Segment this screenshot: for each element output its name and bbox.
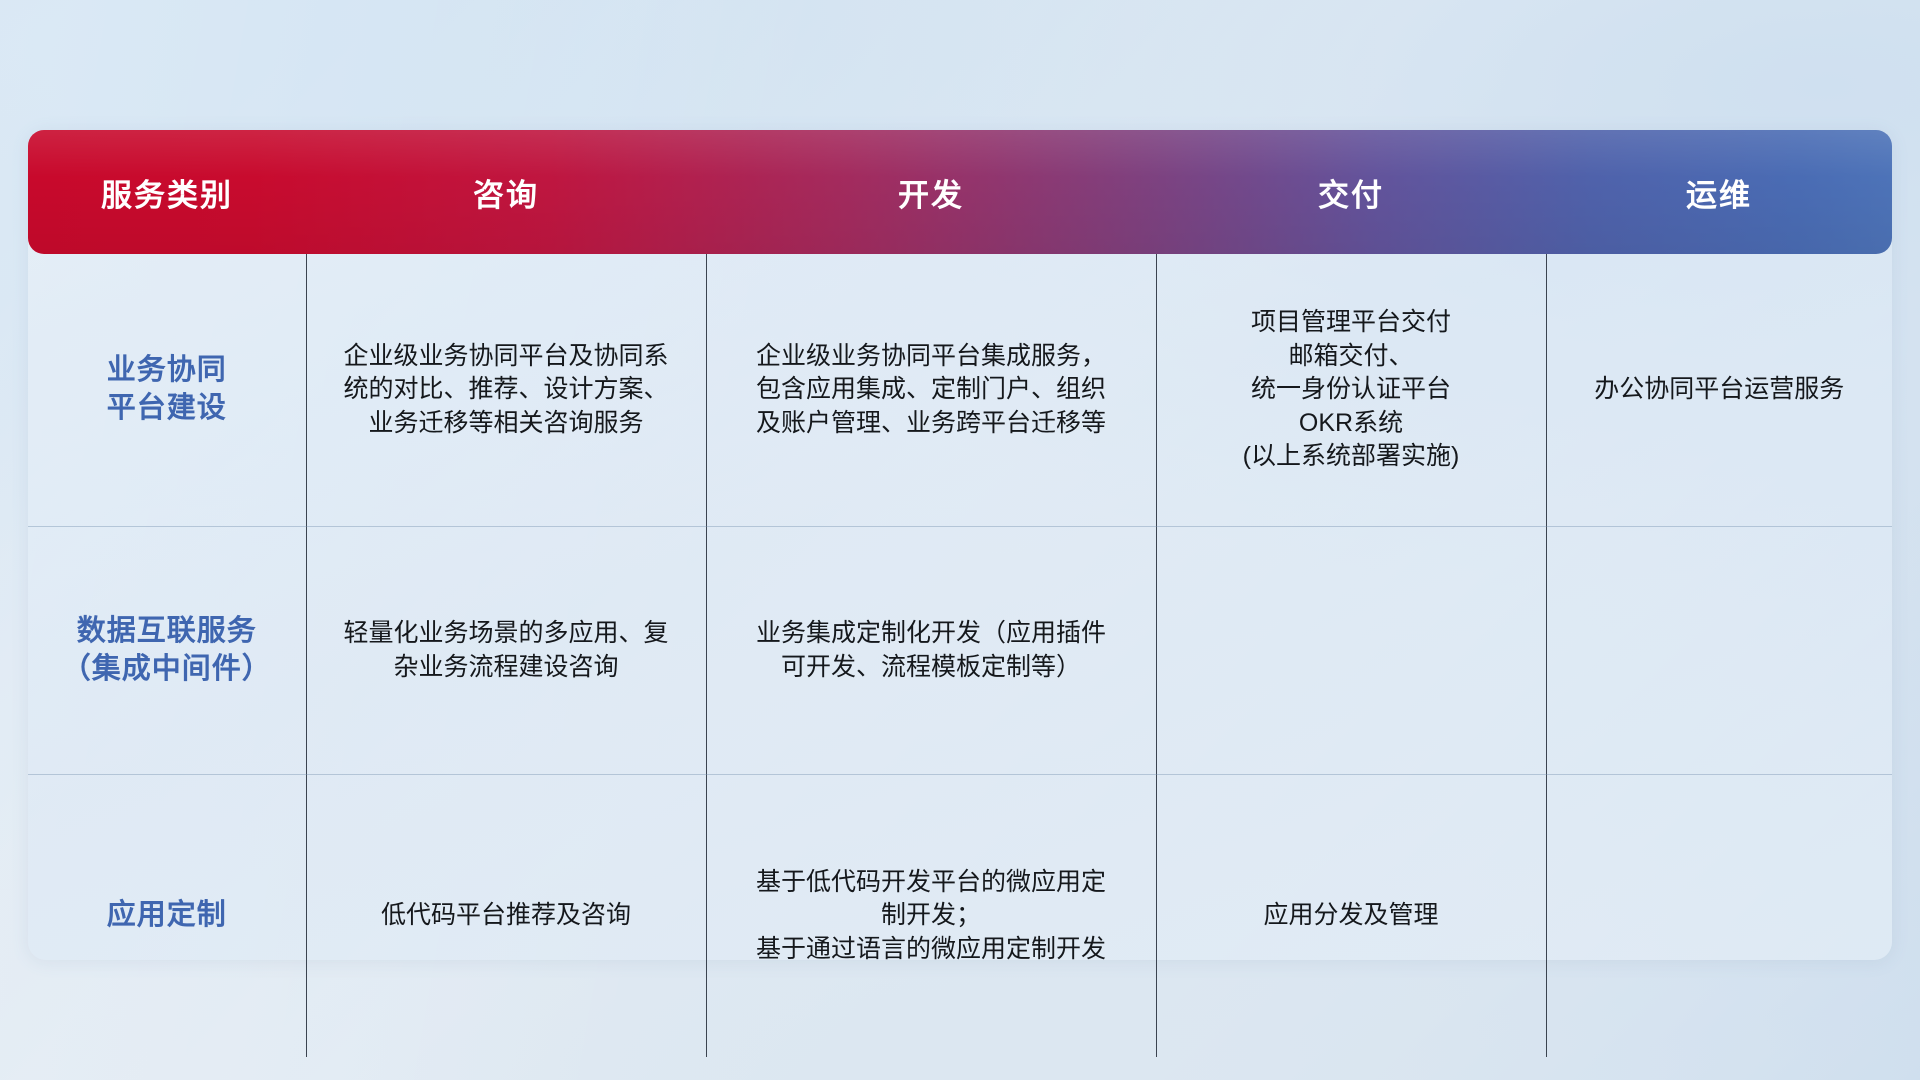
column-header-consulting: 咨询 bbox=[306, 130, 706, 254]
cell-row3-delivery: 应用分发及管理 bbox=[1156, 775, 1546, 1058]
cell-row3-operations bbox=[1546, 775, 1892, 1058]
column-header-development: 开发 bbox=[706, 130, 1156, 254]
table-row: 数据互联服务 （集成中间件） 轻量化业务场景的多应用、复 杂业务流程建设咨询 业… bbox=[28, 527, 1892, 775]
cell-row2-consulting: 轻量化业务场景的多应用、复 杂业务流程建设咨询 bbox=[306, 527, 706, 775]
cell-row3-consulting: 低代码平台推荐及咨询 bbox=[306, 775, 706, 1058]
column-header-service-category: 服务类别 bbox=[28, 130, 306, 254]
table-header-row: 服务类别 咨询 开发 交付 运维 bbox=[28, 130, 1892, 254]
cell-row1-development: 企业级业务协同平台集成服务， 包含应用集成、定制门户、组织 及账户管理、业务跨平… bbox=[706, 254, 1156, 527]
service-matrix-table: 服务类别 咨询 开发 交付 运维 业务协同 平台建设 企业级业务协同平台及协同系… bbox=[28, 130, 1892, 1057]
cell-row2-operations bbox=[1546, 527, 1892, 775]
cell-row1-delivery: 项目管理平台交付 邮箱交付、 统一身份认证平台 OKR系统 (以上系统部署实施) bbox=[1156, 254, 1546, 527]
cell-row1-consulting: 企业级业务协同平台及协同系 统的对比、推荐、设计方案、 业务迁移等相关咨询服务 bbox=[306, 254, 706, 527]
table-body: 业务协同 平台建设 企业级业务协同平台及协同系 统的对比、推荐、设计方案、 业务… bbox=[28, 254, 1892, 1057]
table-header: 服务类别 咨询 开发 交付 运维 bbox=[28, 130, 1892, 254]
cell-row2-delivery bbox=[1156, 527, 1546, 775]
cell-row1-operations: 办公协同平台运营服务 bbox=[1546, 254, 1892, 527]
row-label-application-customization: 应用定制 bbox=[28, 775, 306, 1058]
table-row: 应用定制 低代码平台推荐及咨询 基于低代码开发平台的微应用定 制开发； 基于通过… bbox=[28, 775, 1892, 1058]
table-row: 业务协同 平台建设 企业级业务协同平台及协同系 统的对比、推荐、设计方案、 业务… bbox=[28, 254, 1892, 527]
column-header-delivery: 交付 bbox=[1156, 130, 1546, 254]
cell-row2-development: 业务集成定制化开发（应用插件 可开发、流程模板定制等） bbox=[706, 527, 1156, 775]
row-label-data-interconnect-service: 数据互联服务 （集成中间件） bbox=[28, 527, 306, 775]
cell-row3-development: 基于低代码开发平台的微应用定 制开发； 基于通过语言的微应用定制开发 bbox=[706, 775, 1156, 1058]
column-header-operations: 运维 bbox=[1546, 130, 1892, 254]
row-label-business-collaboration: 业务协同 平台建设 bbox=[28, 254, 306, 527]
